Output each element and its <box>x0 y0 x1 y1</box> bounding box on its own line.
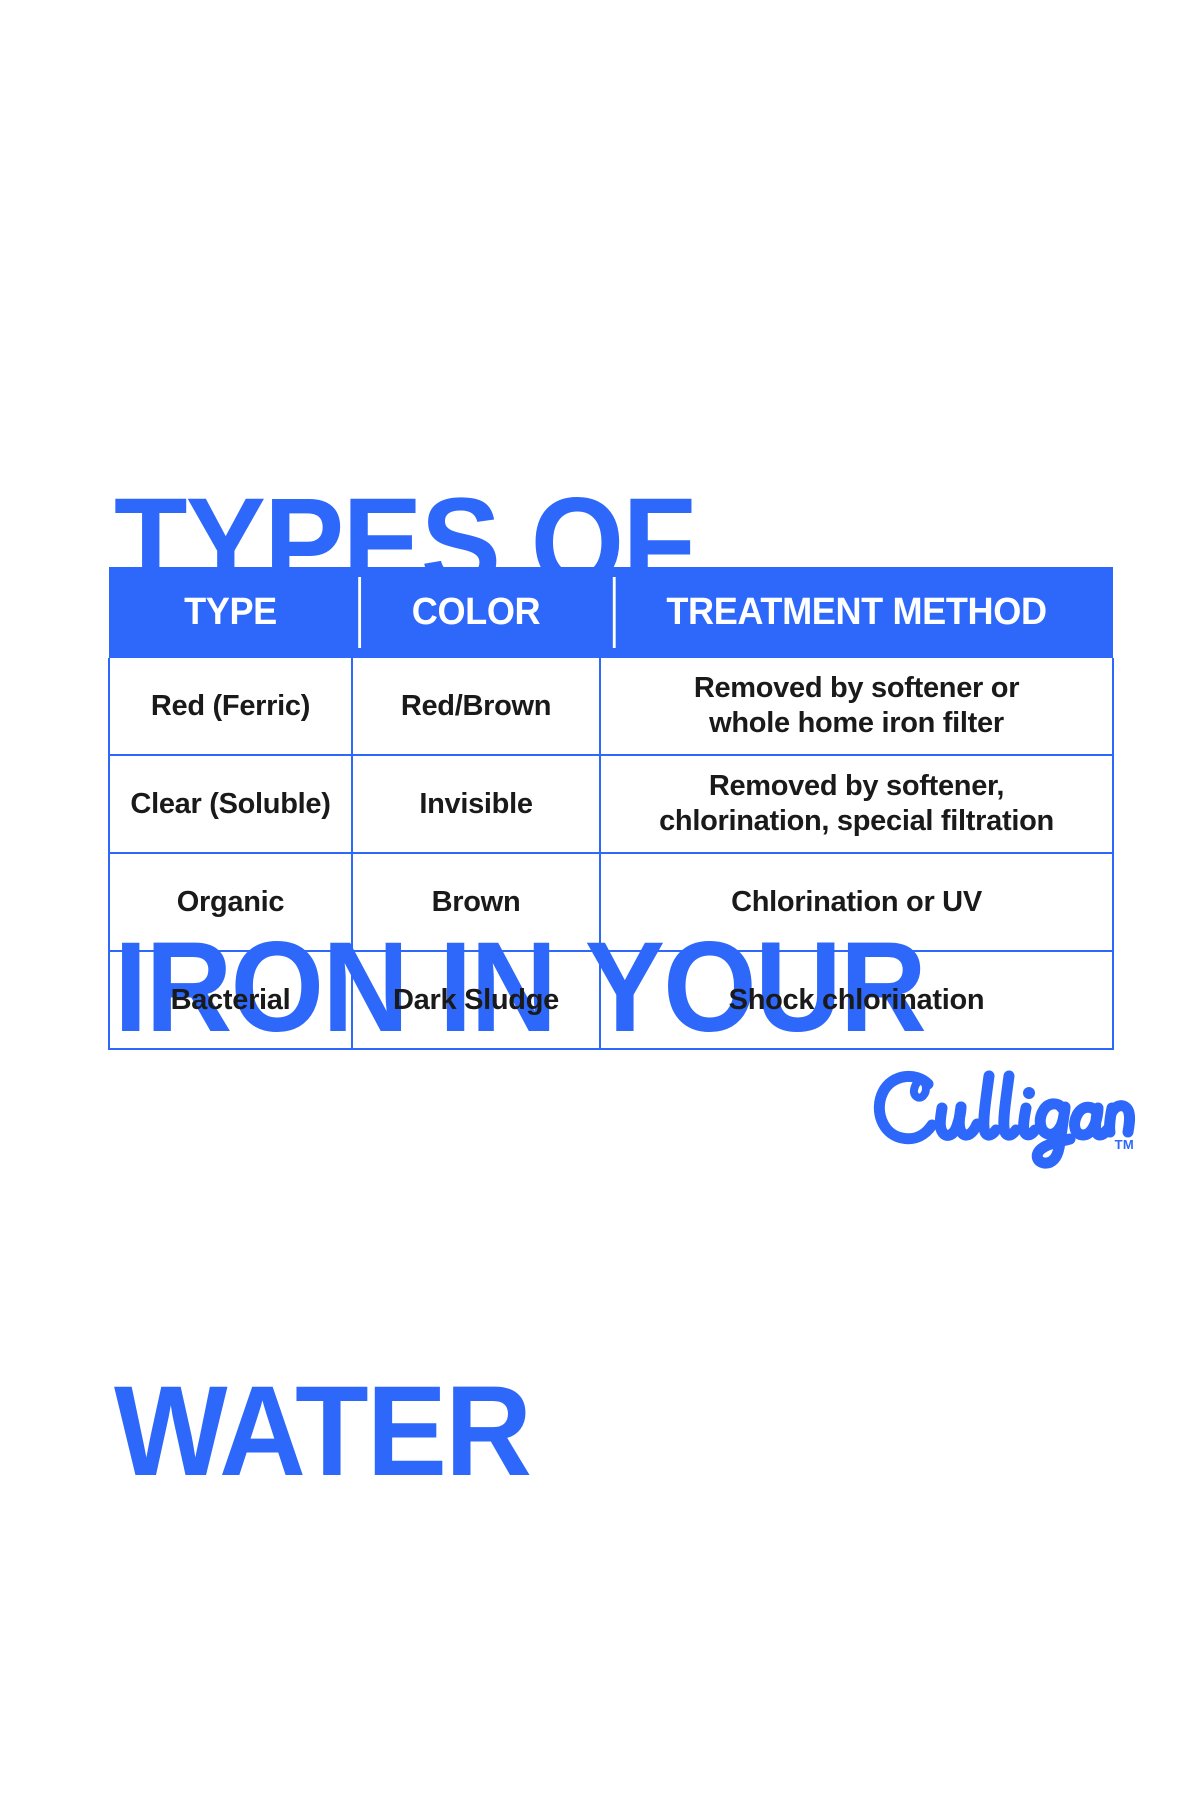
cell-color: Dark Sludge <box>352 951 600 1049</box>
cell-treatment-line-1: Removed by softener or <box>611 671 1102 706</box>
infographic-canvas: TYPES OF IRON IN YOUR WATER TYPE COLOR T… <box>0 0 1200 1200</box>
cell-type: Organic <box>109 853 352 951</box>
table-row: Clear (Soluble) Invisible Removed by sof… <box>109 755 1113 853</box>
cell-treatment-line-1: Chlorination or UV <box>611 885 1102 920</box>
cell-treatment-line-1: Shock chlorination <box>611 983 1102 1018</box>
page-title-line-3: WATER <box>114 1358 1073 1506</box>
culligan-wordmark-icon <box>866 1060 1136 1170</box>
cell-color: Brown <box>352 853 600 951</box>
culligan-logo: TM <box>866 1060 1136 1170</box>
table-body: Red (Ferric) Red/Brown Removed by soften… <box>109 658 1113 1049</box>
cell-treatment-line-2: chlorination, special filtration <box>611 804 1102 839</box>
cell-treatment: Removed by softener or whole home iron f… <box>600 658 1113 755</box>
cell-type: Clear (Soluble) <box>109 755 352 853</box>
column-header-type: TYPE <box>115 567 346 658</box>
column-header-treatment-method: TREATMENT METHOD <box>613 567 1100 658</box>
table-row: Bacterial Dark Sludge Shock chlorination <box>109 951 1113 1049</box>
iron-types-table: TYPE COLOR TREATMENT METHOD Red (Ferric)… <box>108 567 1114 1050</box>
table-header-row: TYPE COLOR TREATMENT METHOD <box>109 567 1113 658</box>
letter-i-dot-icon <box>1023 1087 1035 1099</box>
cell-color: Invisible <box>352 755 600 853</box>
column-header-color: COLOR <box>358 567 594 658</box>
table-row: Red (Ferric) Red/Brown Removed by soften… <box>109 658 1113 755</box>
cell-treatment-line-2: whole home iron filter <box>611 706 1102 741</box>
cell-treatment-line-1: Removed by softener, <box>611 769 1102 804</box>
cell-treatment: Removed by softener, chlorination, speci… <box>600 755 1113 853</box>
cell-treatment: Shock chlorination <box>600 951 1113 1049</box>
trademark-symbol: TM <box>1115 1137 1134 1152</box>
table-row: Organic Brown Chlorination or UV <box>109 853 1113 951</box>
cell-type: Red (Ferric) <box>109 658 352 755</box>
table-header: TYPE COLOR TREATMENT METHOD <box>109 567 1113 658</box>
cell-treatment: Chlorination or UV <box>600 853 1113 951</box>
cell-color: Red/Brown <box>352 658 600 755</box>
cell-type: Bacterial <box>109 951 352 1049</box>
